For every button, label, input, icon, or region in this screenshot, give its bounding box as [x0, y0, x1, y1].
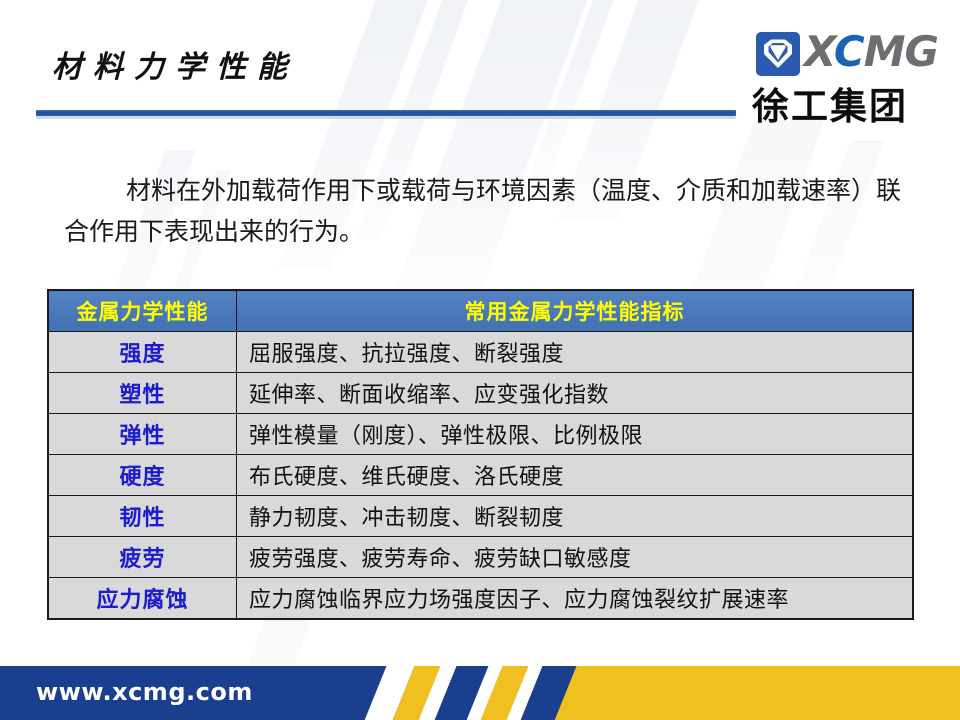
property-indicators: 应力腐蚀临界应力场强度因子、应力腐蚀裂纹扩展速率 — [237, 578, 913, 619]
property-name: 强度 — [49, 332, 237, 373]
property-name: 应力腐蚀 — [49, 578, 237, 619]
slide-canvas: 材料力学性能 XCMG 徐工集团 材料在外加载荷作用下或载荷与环境因素（温度、介… — [0, 0, 960, 720]
property-name: 疲劳 — [49, 537, 237, 578]
title-rule-shadow — [36, 116, 736, 119]
table-row: 塑性 延伸率、断面收缩率、应变强化指数 — [49, 373, 913, 414]
table-row: 疲劳 疲劳强度、疲劳寿命、疲劳缺口敏感度 — [49, 537, 913, 578]
definition-paragraph: 材料在外加载荷作用下或载荷与环境因素（温度、介质和加载速率）联合作用下表现出来的… — [64, 170, 924, 252]
property-indicators: 静力韧度、冲击韧度、断裂韧度 — [237, 496, 913, 537]
xcmg-logo: XCMG 徐工集团 — [752, 30, 948, 122]
mechanical-properties-table: 金属力学性能 常用金属力学性能指标 强度 屈服强度、抗拉强度、断裂强度 塑性 延… — [48, 290, 913, 619]
table-row: 弹性 弹性模量（刚度）、弹性极限、比例极限 — [49, 414, 913, 455]
title-rule — [36, 110, 736, 116]
slide-footer: www.xcmg.com — [0, 664, 960, 720]
wordmark-x: X — [804, 27, 834, 76]
table-row: 韧性 静力韧度、冲击韧度、断裂韧度 — [49, 496, 913, 537]
slide-header: 材料力学性能 XCMG 徐工集团 — [0, 0, 960, 132]
wordmark-mg: MG — [864, 27, 938, 76]
property-indicators: 延伸率、断面收缩率、应变强化指数 — [237, 373, 913, 414]
table-header-property: 金属力学性能 — [49, 291, 237, 332]
table-header-indicators: 常用金属力学性能指标 — [237, 291, 913, 332]
page-title: 材料力学性能 — [52, 42, 298, 86]
table-header-row: 金属力学性能 常用金属力学性能指标 — [49, 291, 913, 332]
xcmg-diamond-icon — [756, 32, 800, 76]
table-row: 应力腐蚀 应力腐蚀临界应力场强度因子、应力腐蚀裂纹扩展速率 — [49, 578, 913, 619]
table-row: 硬度 布氏硬度、维氏硬度、洛氏硬度 — [49, 455, 913, 496]
table-row: 强度 屈服强度、抗拉强度、断裂强度 — [49, 332, 913, 373]
property-name: 韧性 — [49, 496, 237, 537]
property-indicators: 弹性模量（刚度）、弹性极限、比例极限 — [237, 414, 913, 455]
property-indicators: 疲劳强度、疲劳寿命、疲劳缺口敏感度 — [237, 537, 913, 578]
logo-chinese-name: 徐工集团 — [752, 76, 908, 130]
footer-top-divider — [0, 664, 960, 666]
wordmark-c: C — [834, 27, 864, 76]
footer-website-url: www.xcmg.com — [36, 678, 253, 706]
property-name: 塑性 — [49, 373, 237, 414]
property-name: 硬度 — [49, 455, 237, 496]
property-indicators: 屈服强度、抗拉强度、断裂强度 — [237, 332, 913, 373]
property-indicators: 布氏硬度、维氏硬度、洛氏硬度 — [237, 455, 913, 496]
xcmg-wordmark: XCMG — [804, 26, 938, 78]
property-name: 弹性 — [49, 414, 237, 455]
